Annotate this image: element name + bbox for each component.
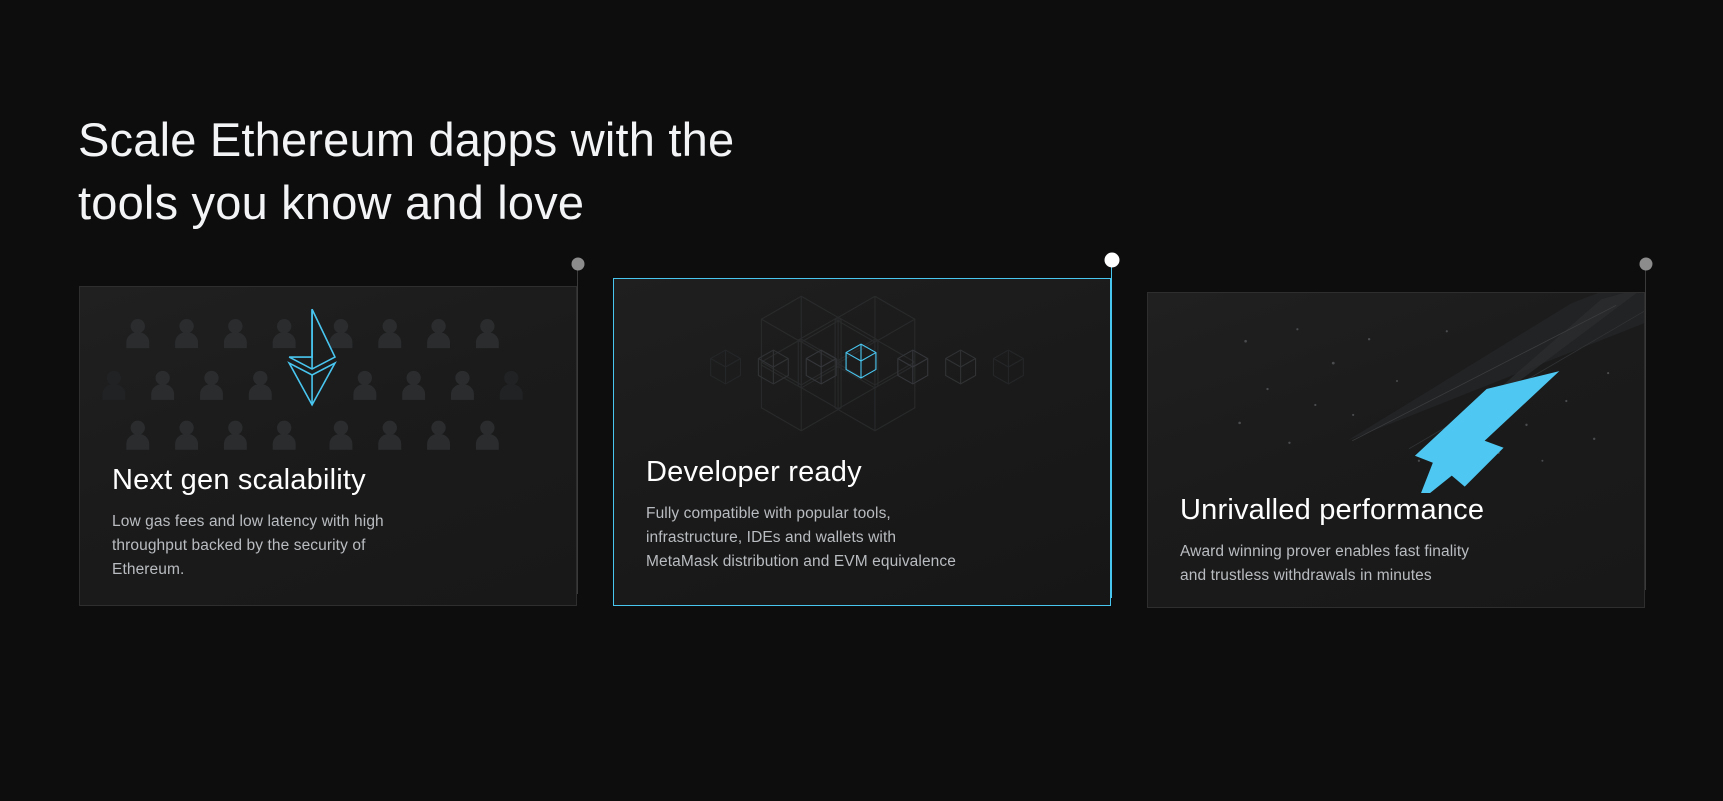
card-connector-line-2 <box>1111 260 1112 598</box>
lightning-bolt-illustration <box>1148 293 1644 493</box>
card-connector-line-1 <box>577 264 578 594</box>
card-body-3: Unrivalled performance Award winning pro… <box>1148 493 1644 588</box>
card-title-2: Developer ready <box>646 455 1078 489</box>
isometric-cubes-illustration <box>614 279 1110 455</box>
card-marker-dot-2[interactable] <box>1104 253 1119 268</box>
card-description-2: Fully compatible with popular tools, inf… <box>646 502 1078 574</box>
feature-card-developer-ready[interactable]: Developer ready Fully compatible with po… <box>613 278 1111 606</box>
highlighted-cube-icon <box>846 344 876 378</box>
card-body-1: Next gen scalability Low gas fees and lo… <box>80 463 576 582</box>
card-marker-dot-3[interactable] <box>1639 258 1652 271</box>
page-heading: Scale Ethereum dapps with the tools you … <box>78 108 978 234</box>
ethereum-crowd-illustration <box>80 287 576 463</box>
feature-cards-section: Scale Ethereum dapps with the tools you … <box>0 0 1723 801</box>
feature-card-rail: Next gen scalability Low gas fees and lo… <box>0 250 1723 610</box>
card-description-1: Low gas fees and low latency with high t… <box>112 510 544 582</box>
card-body-2: Developer ready Fully compatible with po… <box>614 455 1110 574</box>
ethereum-logo-icon <box>289 309 335 405</box>
card-marker-dot-1[interactable] <box>571 258 584 271</box>
card-title-1: Next gen scalability <box>112 463 544 497</box>
card-connector-line-3 <box>1645 264 1646 590</box>
card-description-3: Award winning prover enables fast finali… <box>1180 540 1612 588</box>
feature-card-unrivalled-performance[interactable]: Unrivalled performance Award winning pro… <box>1147 292 1645 608</box>
card-title-3: Unrivalled performance <box>1180 493 1612 527</box>
feature-card-next-gen-scalability[interactable]: Next gen scalability Low gas fees and lo… <box>79 286 577 606</box>
